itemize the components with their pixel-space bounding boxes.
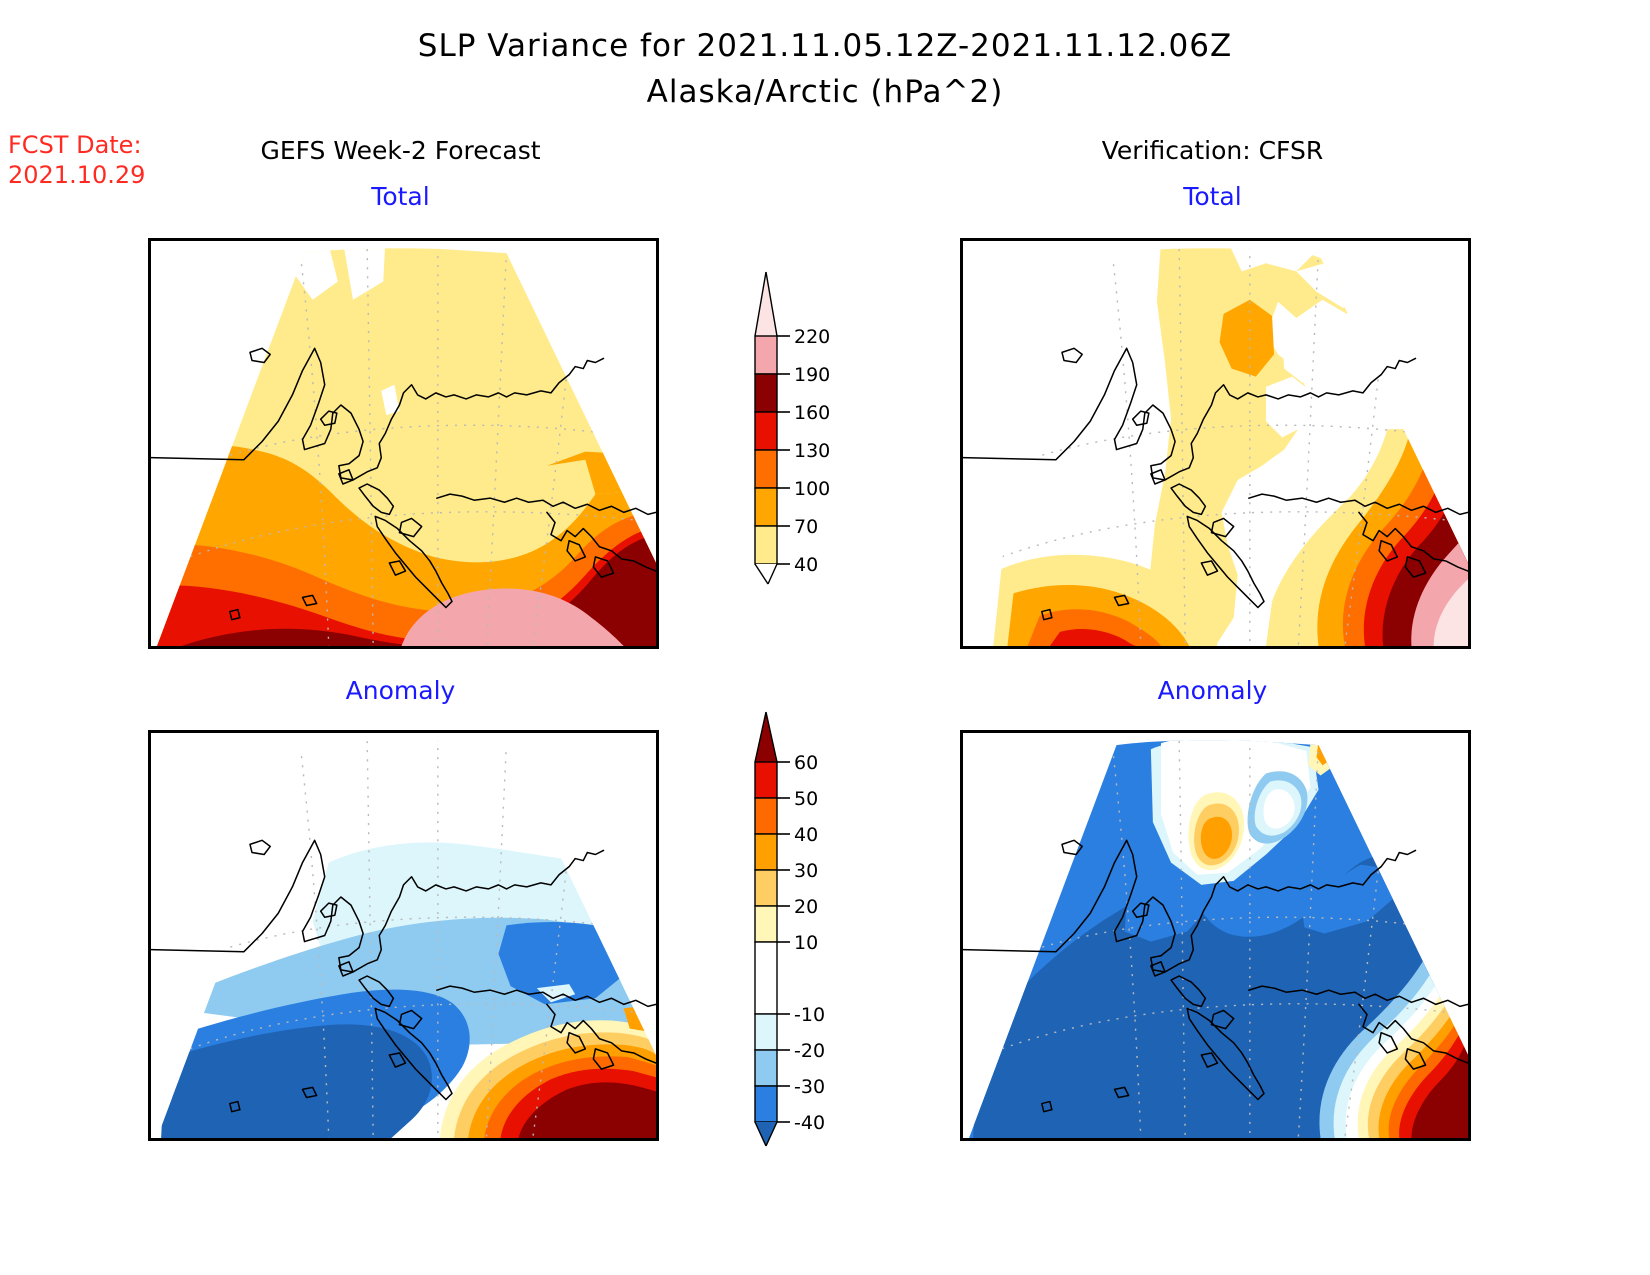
colorbar-total-tick: 100 — [794, 478, 830, 500]
fcst-date-value: 2021.10.29 — [8, 160, 145, 190]
colorbar-total-tick: 160 — [794, 402, 830, 424]
fcst-date-label: FCST Date: — [8, 130, 145, 160]
panel-title-top-left: Total — [148, 182, 653, 211]
colorbar-total-tick: 190 — [794, 364, 830, 386]
colorbar-total-tick: 40 — [794, 554, 818, 576]
map-panel-gefs-anomaly[interactable] — [148, 730, 659, 1141]
colorbar-total-tick: 130 — [794, 440, 830, 462]
fcst-date-block: FCST Date: 2021.10.29 — [8, 130, 145, 190]
colorbar-total-tick: 220 — [794, 326, 830, 348]
left-column-header: GEFS Week-2 Forecast — [148, 136, 653, 165]
colorbar-anomaly-tick: 10 — [794, 932, 818, 954]
colorbar-anomaly-tick: 20 — [794, 896, 818, 918]
map-panel-cfsr-total[interactable] — [960, 238, 1471, 649]
colorbar-total: 220 190 160 130 100 70 40 — [720, 268, 870, 588]
colorbar-anomaly-tick: 50 — [794, 788, 818, 810]
colorbar-total-ticklabels: 220 190 160 130 100 70 40 — [794, 326, 830, 576]
colorbar-anomaly-tick: 60 — [794, 752, 818, 774]
page-title: SLP Variance for 2021.11.05.12Z-2021.11.… — [0, 28, 1650, 64]
colorbar-anomaly: 60 50 40 30 20 10 -10 -20 -30 -40 — [720, 700, 870, 1150]
colorbar-anomaly-tick: -40 — [794, 1112, 825, 1134]
colorbar-total-tick: 70 — [794, 516, 818, 538]
colorbar-anomaly-ticklabels: 60 50 40 30 20 10 -10 -20 -30 -40 — [794, 752, 825, 1134]
panel-title-bottom-right: Anomaly — [960, 676, 1465, 705]
panel-title-bottom-left: Anomaly — [148, 676, 653, 705]
right-column-header: Verification: CFSR — [960, 136, 1465, 165]
colorbar-anomaly-tick: -30 — [794, 1076, 825, 1098]
map-panel-cfsr-anomaly[interactable] — [960, 730, 1471, 1141]
page-subtitle: Alaska/Arctic (hPa^2) — [0, 74, 1650, 110]
colorbar-anomaly-tick: 40 — [794, 824, 818, 846]
colorbar-anomaly-tick: -10 — [794, 1004, 825, 1026]
colorbar-anomaly-tick: 30 — [794, 860, 818, 882]
panel-title-top-right: Total — [960, 182, 1465, 211]
colorbar-anomaly-tick: -20 — [794, 1040, 825, 1062]
map-panel-gefs-total[interactable] — [148, 238, 659, 649]
